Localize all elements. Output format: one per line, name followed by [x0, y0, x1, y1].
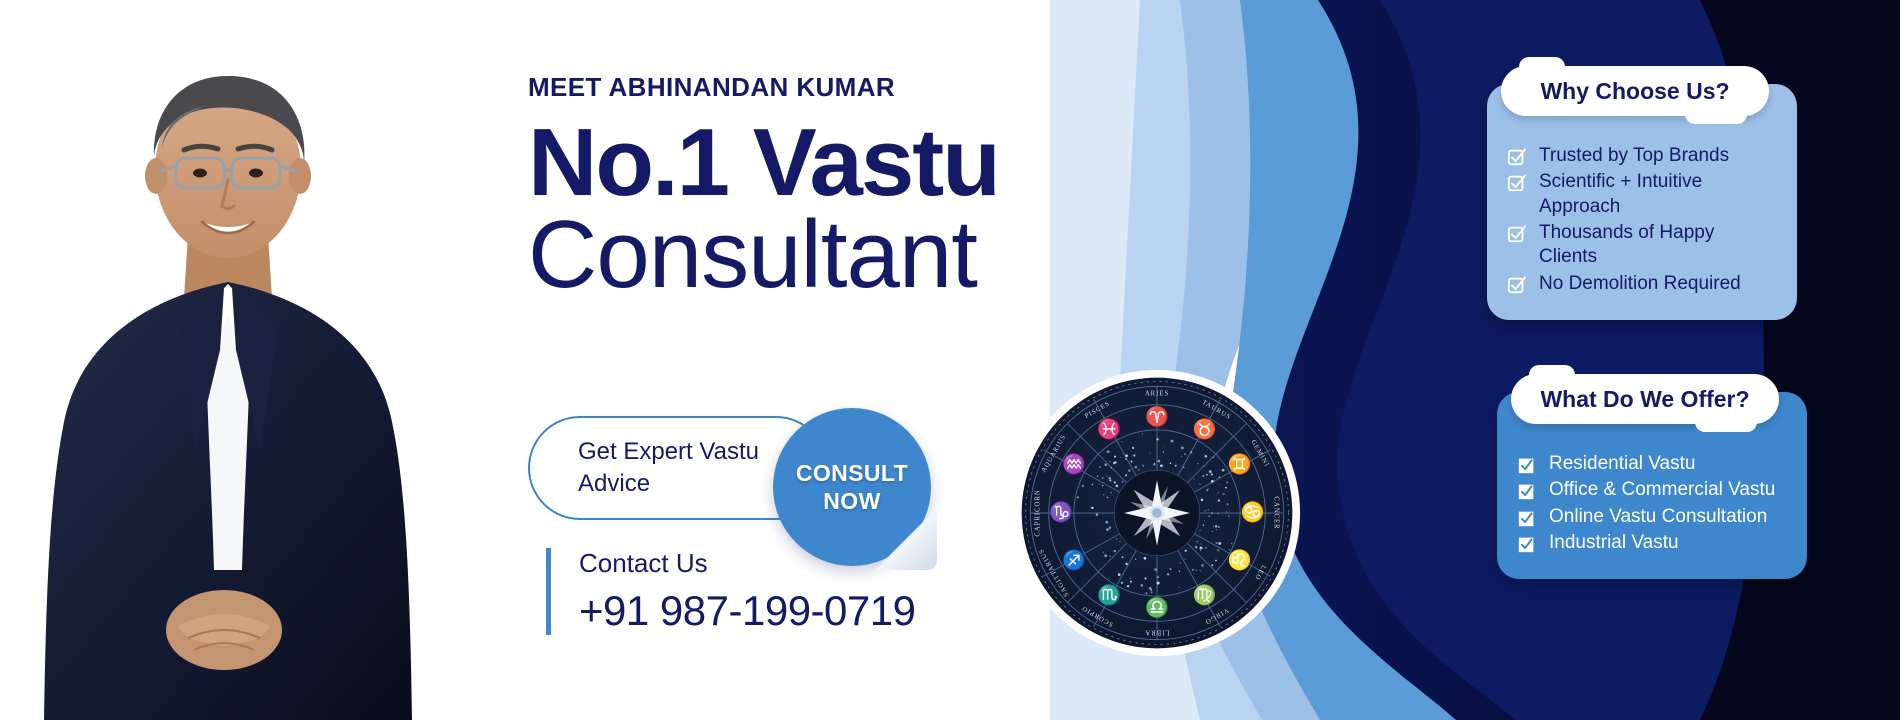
- why-choose-us-title: Why Choose Us?: [1540, 78, 1729, 105]
- check-filled-icon: [1517, 480, 1537, 502]
- zodiac-glyph-pisces: ♓: [1097, 418, 1121, 441]
- what-do-we-offer-title: What Do We Offer?: [1540, 386, 1749, 413]
- hero-text-block: MEET ABHINANDAN KUMAR No.1 Vastu Consult…: [528, 72, 1228, 301]
- zodiac-name-libra: LIBRA: [1144, 628, 1169, 635]
- check-outline-icon: [1507, 274, 1527, 296]
- hero-banner: MEET ABHINANDAN KUMAR No.1 Vastu Consult…: [0, 0, 1900, 720]
- list-item-label: Industrial Vastu: [1549, 531, 1679, 555]
- list-item: No Demolition Required: [1507, 272, 1777, 296]
- what-do-we-offer-card: What Do We Offer? Residential Vastu Offi…: [1497, 392, 1807, 579]
- list-item: Trusted by Top Brands: [1507, 144, 1777, 168]
- zodiac-glyph-taurus: ♉: [1193, 418, 1217, 441]
- badge-line-1: CONSULT: [796, 459, 908, 487]
- cta-row: Get Expert Vastu Advice CONSULT NOW: [528, 408, 948, 528]
- headline-line-1: No.1 Vastu: [528, 117, 1228, 209]
- check-outline-icon: [1507, 172, 1527, 194]
- list-item: Residential Vastu: [1517, 452, 1787, 476]
- portrait-photo: [28, 30, 428, 720]
- zodiac-glyph-sagittarius: ♐: [1062, 548, 1086, 571]
- zodiac-name-aries: ARIES: [1145, 391, 1169, 398]
- zodiac-wheel-icon: ♈♉♊♋♌♍♎♏♐♑♒♓ ARIESTAURUSGEMINICANCERLEOV…: [1012, 368, 1302, 658]
- list-item-label: Residential Vastu: [1549, 452, 1695, 476]
- list-item-label: Online Vastu Consultation: [1549, 505, 1767, 529]
- list-item: Scientific + Intuitive Approach: [1507, 170, 1777, 219]
- what-do-we-offer-tab: What Do We Offer?: [1511, 374, 1779, 424]
- zodiac-name-cancer: CANCER: [1272, 496, 1279, 529]
- list-item: Industrial Vastu: [1517, 531, 1787, 555]
- why-choose-us-tab: Why Choose Us?: [1501, 66, 1769, 116]
- page-title: No.1 Vastu Consultant: [528, 117, 1228, 301]
- zodiac-name-capricorn: CAPRICORN: [1035, 489, 1042, 536]
- list-item-label: Scientific + Intuitive Approach: [1539, 170, 1777, 219]
- check-filled-icon: [1517, 533, 1537, 555]
- consult-now-badge[interactable]: CONSULT NOW: [773, 408, 931, 566]
- portrait-illustration: [28, 30, 428, 720]
- zodiac-glyph-libra: ♎: [1145, 596, 1169, 619]
- contact-phone[interactable]: +91 987-199-0719: [579, 587, 915, 635]
- why-choose-us-list: Trusted by Top Brands Scientific + Intui…: [1507, 144, 1777, 296]
- zodiac-glyph-cancer: ♋: [1241, 501, 1265, 524]
- check-outline-icon: [1507, 146, 1527, 168]
- zodiac-glyph-gemini: ♊: [1228, 453, 1252, 476]
- zodiac-glyph-virgo: ♍: [1193, 583, 1217, 606]
- zodiac-glyph-aquarius: ♒: [1062, 453, 1086, 476]
- list-item-label: Office & Commercial Vastu: [1549, 478, 1775, 502]
- contact-label: Contact Us: [579, 548, 915, 579]
- what-do-we-offer-list: Residential Vastu Office & Commercial Va…: [1517, 452, 1787, 555]
- zodiac-wheel-graphic: ♈♉♊♋♌♍♎♏♐♑♒♓ ARIESTAURUSGEMINICANCERLEOV…: [1012, 368, 1302, 658]
- check-outline-icon: [1507, 223, 1527, 245]
- zodiac-glyph-leo: ♌: [1228, 548, 1252, 571]
- list-item: Online Vastu Consultation: [1517, 505, 1787, 529]
- list-item: Thousands of Happy Clients: [1507, 221, 1777, 270]
- cta-button-label: Get Expert Vastu Advice: [578, 436, 766, 501]
- check-filled-icon: [1517, 507, 1537, 529]
- hero-eyebrow: MEET ABHINANDAN KUMAR: [528, 72, 1228, 103]
- list-item: Office & Commercial Vastu: [1517, 478, 1787, 502]
- check-filled-icon: [1517, 454, 1537, 476]
- list-item-label: Trusted by Top Brands: [1539, 144, 1729, 168]
- contact-block: Contact Us +91 987-199-0719: [546, 548, 915, 635]
- list-item-label: No Demolition Required: [1539, 272, 1741, 296]
- headline-line-2: Consultant: [528, 209, 1228, 301]
- zodiac-glyph-aries: ♈: [1145, 405, 1169, 428]
- list-item-label: Thousands of Happy Clients: [1539, 221, 1777, 270]
- zodiac-glyph-scorpio: ♏: [1097, 583, 1121, 606]
- badge-line-2: NOW: [823, 487, 880, 515]
- why-choose-us-card: Why Choose Us? Trusted by Top Brands Sci…: [1487, 84, 1797, 320]
- zodiac-glyph-capricorn: ♑: [1049, 501, 1073, 524]
